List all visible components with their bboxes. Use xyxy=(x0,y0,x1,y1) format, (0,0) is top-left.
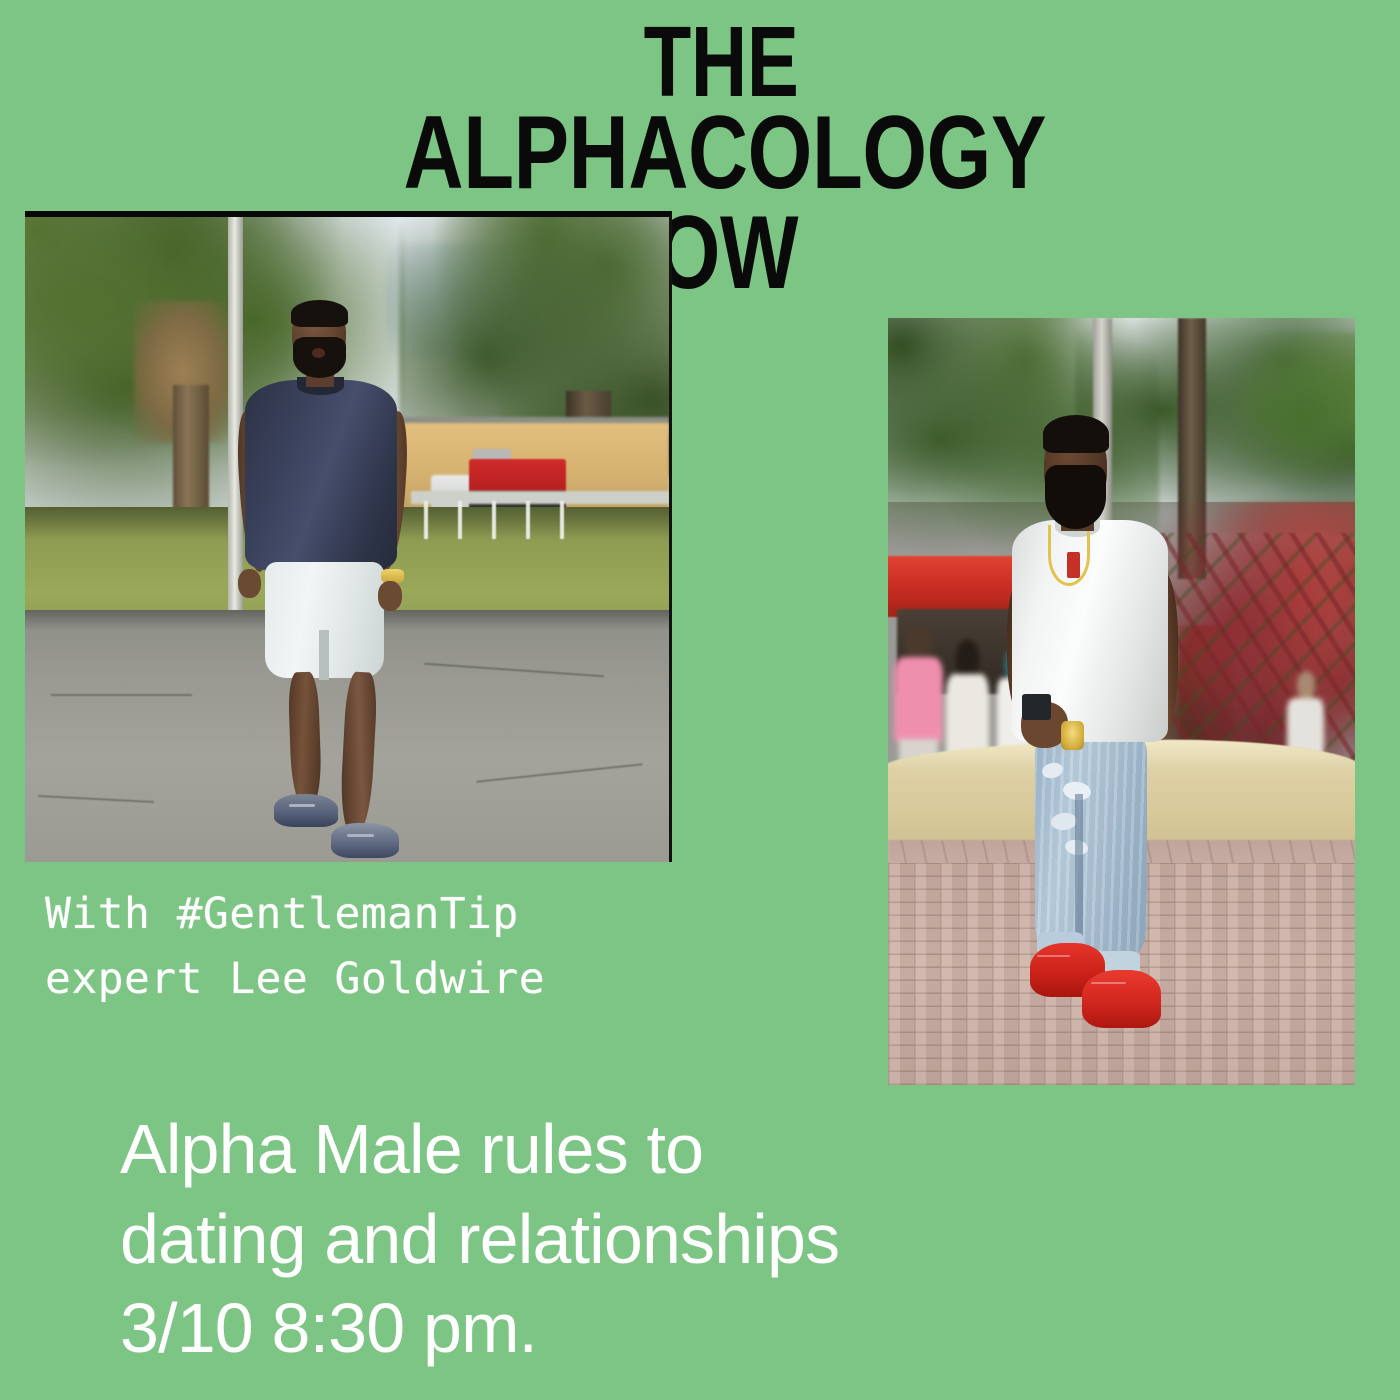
host-right-hand xyxy=(378,581,402,611)
host-navy-tshirt xyxy=(245,380,396,570)
palm-fronds xyxy=(1206,333,1355,502)
loafer-strap xyxy=(289,804,315,807)
sneaker-laces xyxy=(1037,955,1070,957)
episode-headline: Alpha Male rules to dating and relations… xyxy=(120,1105,1130,1374)
shirt-red-logo xyxy=(1067,552,1080,578)
poster-canvas: THE ALPHACOLOGY SHOW xyxy=(0,0,1400,1400)
fence-posts xyxy=(424,501,591,540)
sneaker-laces xyxy=(1091,982,1126,984)
guest-right-red-sneaker xyxy=(1082,970,1161,1028)
title-line-the: THE xyxy=(175,18,1267,106)
host-left-hand xyxy=(238,569,261,599)
guest-caption: With #GentlemanTip expert Lee Goldwire xyxy=(45,882,545,1013)
photo-left-host xyxy=(25,211,672,862)
title-line-alphacology: ALPHACOLOGY xyxy=(165,108,1285,200)
host-shorts-gap xyxy=(319,630,329,680)
photo-right-guest xyxy=(888,318,1355,1085)
guest-hair xyxy=(1043,415,1109,453)
person-head xyxy=(1297,671,1315,701)
gold-wristwatch xyxy=(1061,721,1084,750)
person-head xyxy=(905,625,932,662)
host-hair xyxy=(291,300,348,327)
host-right-loafer xyxy=(331,823,399,858)
person-top xyxy=(894,657,943,743)
guest-beard xyxy=(1045,465,1106,529)
smartphone xyxy=(1022,694,1052,720)
host-left-loafer xyxy=(274,794,338,826)
loafer-strap xyxy=(347,834,374,837)
host-beard xyxy=(293,337,346,378)
host-mouth xyxy=(312,348,325,358)
pavement-crack xyxy=(51,694,193,696)
